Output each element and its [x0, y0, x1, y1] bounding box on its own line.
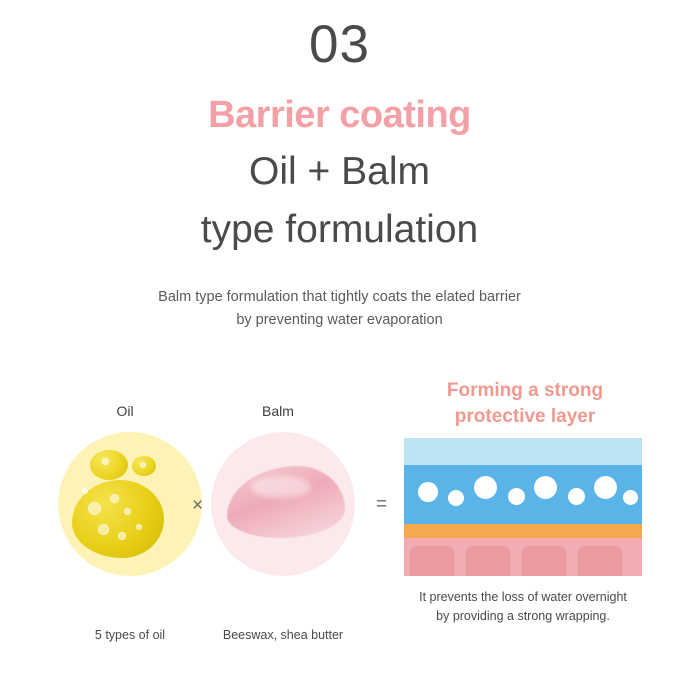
water-dot-icon	[448, 490, 464, 506]
subcopy: Balm type formulation that tightly coats…	[0, 286, 679, 332]
water-dot-icon	[594, 476, 617, 499]
water-dot-icon	[534, 476, 557, 499]
balm-label: Balm	[218, 403, 338, 419]
balm-highlight-icon	[251, 476, 311, 498]
oil-bubble-icon	[110, 494, 119, 503]
water-dot-icon	[474, 476, 497, 499]
water-dot-icon	[568, 488, 585, 505]
oil-bubble-icon	[136, 524, 142, 530]
oil-droplet-medium-icon	[90, 450, 128, 480]
oil-bubble-icon	[124, 508, 131, 515]
oil-bubble-icon	[140, 462, 146, 468]
oil-bubble-icon	[102, 458, 109, 465]
result-title-line-1: Forming a strong	[400, 378, 650, 404]
water-dot-icon	[508, 488, 525, 505]
skin-layer-illustration	[404, 438, 642, 576]
subcopy-line-1: Balm type formulation that tightly coats…	[0, 286, 679, 309]
skin-cell-icon	[466, 546, 510, 576]
headline-line-1: Oil + Balm	[0, 150, 679, 194]
water-dot-icon	[418, 482, 438, 502]
balm-illustration	[211, 432, 355, 576]
oil-bubble-icon	[82, 488, 88, 494]
result-caption: It prevents the loss of water overnight …	[382, 588, 664, 626]
infographic-page: 03 Barrier coating Oil + Balm type formu…	[0, 0, 679, 680]
oil-caption: 5 types of oil	[55, 628, 205, 642]
step-number: 03	[0, 14, 679, 75]
oil-illustration	[58, 432, 202, 576]
oil-bubble-icon	[98, 524, 109, 535]
skin-cell-icon	[578, 546, 622, 576]
subcopy-line-2: by preventing water evaporation	[0, 309, 679, 332]
result-caption-line-2: by providing a strong wrapping.	[382, 607, 664, 626]
result-caption-line-1: It prevents the loss of water overnight	[382, 588, 664, 607]
headline-line-2: type formulation	[0, 208, 679, 252]
oil-bubble-icon	[88, 502, 101, 515]
layer-lipid	[404, 524, 642, 538]
oil-bubble-icon	[118, 532, 126, 540]
skin-cell-icon	[522, 546, 566, 576]
oil-label: Oil	[65, 403, 185, 419]
result-title: Forming a strong protective layer	[400, 378, 650, 430]
operator-equals: =	[376, 494, 387, 516]
headline-accent: Barrier coating	[0, 94, 679, 137]
formula-diagram: Oil Balm × = 5 types of oil Beeswax, she…	[0, 370, 679, 660]
balm-caption: Beeswax, shea butter	[203, 628, 363, 642]
skin-cell-icon	[410, 546, 454, 576]
operator-multiply: ×	[192, 495, 203, 517]
result-title-line-2: protective layer	[400, 404, 650, 430]
layer-surface	[404, 438, 642, 465]
water-dot-icon	[623, 490, 638, 505]
